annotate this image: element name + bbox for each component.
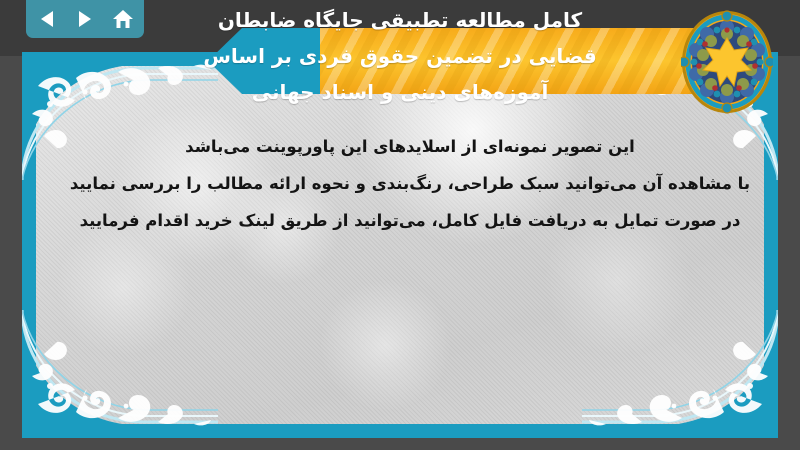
slide-viewer: کامل مطالعه تطبیقی جایگاه ضابطان قضایی د… xyxy=(0,0,800,450)
body-line-2: با مشاهده آن می‌توانید سبک طراحی، رنگ‌بن… xyxy=(60,165,760,202)
slide-canvas xyxy=(36,66,764,424)
slide-frame xyxy=(22,52,778,438)
navigation-bar xyxy=(26,0,144,38)
previous-slide-button[interactable] xyxy=(34,6,60,32)
home-button[interactable] xyxy=(110,6,136,32)
slide-body-text: این تصویر نمونه‌ای از اسلایدهای این پاور… xyxy=(60,128,760,239)
body-line-1: این تصویر نمونه‌ای از اسلایدهای این پاور… xyxy=(60,128,760,165)
title-banner xyxy=(208,28,708,94)
banner-arrow-tail xyxy=(208,28,320,94)
banner-gold-band xyxy=(320,28,708,94)
persian-medallion-icon xyxy=(681,10,773,114)
next-slide-button[interactable] xyxy=(72,6,98,32)
body-line-3: در صورت تمایل به دریافت فایل کامل، می‌تو… xyxy=(60,202,760,239)
